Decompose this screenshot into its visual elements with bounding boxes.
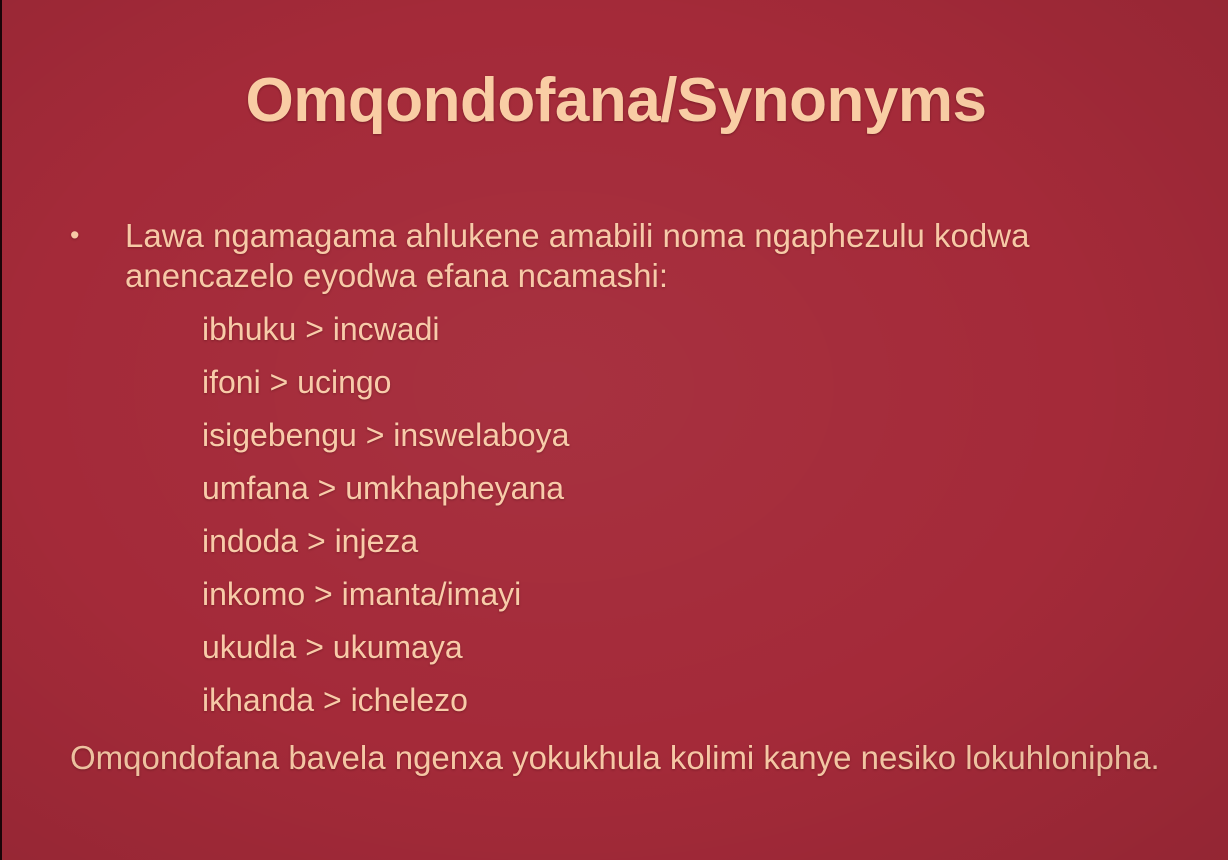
bullet-paragraph-text: Lawa ngamagama ahlukene amabili noma nga… bbox=[125, 216, 1160, 297]
slide-title: Omqondofana/Synonyms bbox=[2, 68, 1228, 135]
bullet-paragraph: • Lawa ngamagama ahlukene amabili noma n… bbox=[70, 216, 1160, 297]
list-item: umfana > umkhapheyana bbox=[202, 462, 1160, 515]
list-item: indoda > injeza bbox=[202, 515, 1160, 568]
synonym-pairs-list: ibhuku > incwadi ifoni > ucingo isigeben… bbox=[70, 303, 1160, 728]
closing-paragraph: Omqondofana bavela ngenxa yokukhula koli… bbox=[70, 737, 1160, 778]
list-item: ibhuku > incwadi bbox=[202, 303, 1160, 356]
bullet-dot-icon: • bbox=[70, 216, 125, 254]
slide-body: • Lawa ngamagama ahlukene amabili noma n… bbox=[70, 216, 1160, 779]
presentation-slide: Omqondofana/Synonyms • Lawa ngamagama ah… bbox=[0, 0, 1228, 860]
list-item: inkomo > imanta/imayi bbox=[202, 568, 1160, 621]
list-item: ikhanda > ichelezo bbox=[202, 674, 1160, 727]
list-item: ukudla > ukumaya bbox=[202, 621, 1160, 674]
list-item: ifoni > ucingo bbox=[202, 356, 1160, 409]
list-item: isigebengu > inswelaboya bbox=[202, 409, 1160, 462]
